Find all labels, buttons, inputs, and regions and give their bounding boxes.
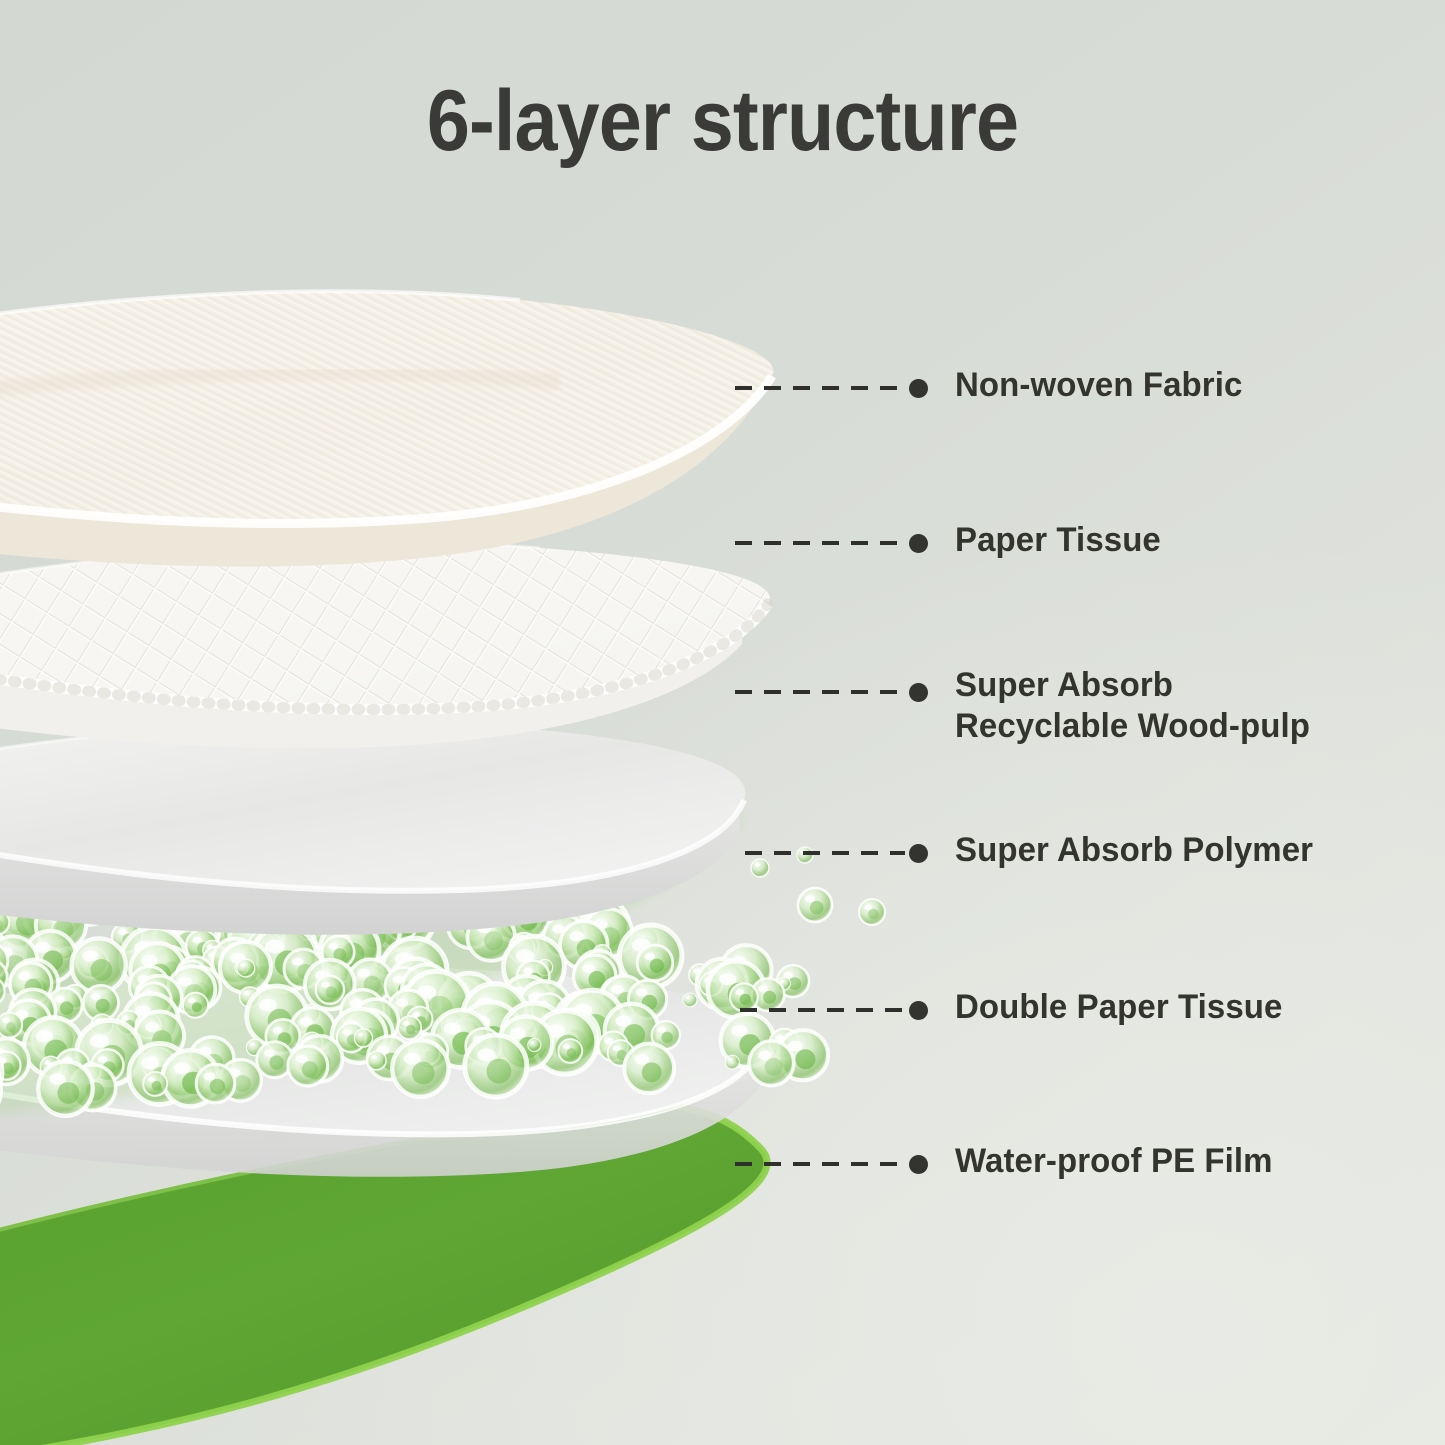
sap-bead-highlight (636, 989, 647, 997)
sap-bead-core (740, 994, 751, 1005)
sap-bead-highlight (265, 940, 285, 954)
sap-bead-highlight (582, 964, 595, 973)
sap-bead-highlight (148, 1077, 155, 1082)
sap-bead-highlight (477, 1049, 496, 1062)
sap-bead-core (810, 901, 824, 915)
sap-bead-highlight (563, 1044, 570, 1049)
sap-bead-highlight (188, 998, 196, 1003)
sap-bead-highlight (244, 991, 250, 995)
sap-bead-highlight (141, 1057, 159, 1070)
sap-bead-core (234, 1075, 251, 1092)
sap-bead (528, 1038, 541, 1051)
sap-bead-highlight (358, 1033, 363, 1037)
sap-bead-highlight (49, 1073, 65, 1084)
sap-bead-highlight (728, 1058, 732, 1061)
layer-label-line1: Water-proof PE Film (955, 1142, 1273, 1180)
leader-line-super-absorb-recyclable-wood-pulp (735, 690, 905, 694)
layer-label-line1: Non-woven Fabric (955, 366, 1242, 404)
sap-bead (751, 859, 769, 877)
sap-bead-highlight (204, 1072, 216, 1080)
sap-bead-highlight (719, 973, 736, 985)
sap-bead-highlight (686, 996, 690, 999)
sap-bead-core (192, 1002, 202, 1012)
leader-line-double-paper-tissue (740, 1008, 905, 1012)
sap-bead-highlight (755, 863, 760, 867)
sap-bead (237, 959, 255, 977)
leader-dot-non-woven-fabric (909, 379, 928, 398)
sap-bead-core (406, 1025, 415, 1034)
sap-bead-highlight (657, 1027, 665, 1033)
sap-bead-core (650, 959, 664, 973)
sap-bead-highlight (613, 1046, 621, 1051)
layer-label-paper-tissue: Paper Tissue (955, 520, 1161, 561)
sap-bead-highlight (292, 958, 304, 966)
sap-bead-highlight (36, 1030, 53, 1042)
leader-line-non-woven-fabric (735, 386, 905, 390)
sap-bead-highlight (300, 1017, 313, 1026)
product-layer-diagram: 6-layer structure (0, 0, 1445, 1445)
layer-label-line1: Super Absorb (955, 666, 1173, 704)
leader-line-water-proof-pe-film (735, 1162, 905, 1166)
sap-bead-highlight (174, 1062, 191, 1074)
layer-label-double-paper-tissue: Double Paper Tissue (955, 987, 1282, 1028)
leader-dot-double-paper-tissue (909, 1001, 928, 1020)
sap-bead-core (763, 991, 776, 1004)
sap-bead-highlight (18, 972, 30, 981)
layer-shape-non-woven-fabric (0, 291, 773, 566)
sap-bead-core (91, 959, 113, 981)
sap-bead-core (60, 1001, 74, 1015)
sap-bead-highlight (758, 1051, 771, 1060)
layer-shape-paper-tissue (0, 543, 770, 749)
sap-bead-highlight (90, 1034, 109, 1048)
layer-label-line2: Recyclable Wood-pulp (955, 706, 1310, 747)
sap-bead-core (795, 1049, 815, 1069)
sap-bead-highlight (2, 1018, 10, 1023)
sap-bead-highlight (634, 1054, 649, 1064)
sap-bead-highlight (90, 993, 101, 1000)
sap-bead-core (765, 1058, 783, 1076)
sap-bead-core (412, 1062, 435, 1085)
sap-bead (797, 847, 813, 863)
sap-bead-core (210, 1079, 225, 1094)
sap-bead-highlight (403, 1021, 410, 1026)
sap-bead-highlight (178, 977, 192, 987)
sap-bead-core (326, 986, 337, 997)
sap-bead-highlight (611, 985, 624, 994)
layer-label-water-proof-pe-film: Water-proof PE Film (955, 1141, 1273, 1182)
sap-bead-highlight (615, 1015, 631, 1026)
sap-bead-core (302, 1061, 318, 1077)
leader-dot-super-absorb-polymer (909, 844, 928, 863)
sap-bead (354, 1029, 372, 1047)
sap-bead-highlight (530, 1041, 534, 1044)
sap-bead-highlight (141, 955, 157, 966)
layer-label-super-absorb-polymer: Super Absorb Polymer (955, 830, 1313, 871)
sap-bead-highlight (644, 953, 655, 960)
sap-bead-highlight (118, 929, 127, 935)
sap-bead-highlight (259, 999, 277, 1012)
sap-bead-highlight (82, 950, 98, 961)
sap-bead-highlight (570, 931, 584, 941)
sap-bead-highlight (731, 1025, 747, 1036)
layer-label-non-woven-fabric: Non-woven Fabric (955, 365, 1242, 406)
sap-bead-core (484, 931, 503, 950)
leader-dot-paper-tissue (909, 534, 928, 553)
sap-bead-highlight (240, 963, 245, 967)
sap-bead-highlight (444, 1022, 461, 1034)
sap-bead-highlight (329, 943, 339, 950)
sap-bead-highlight (524, 968, 534, 975)
sap-bead-core (96, 999, 110, 1013)
sap-bead-highlight (193, 937, 203, 944)
sap-bead-core (868, 909, 878, 919)
sap-bead-highlight (250, 1043, 255, 1046)
sap-bead-highlight (404, 1053, 421, 1065)
leader-dot-super-absorb-recyclable-wood-pulp (909, 683, 928, 702)
layer-label-line1: Double Paper Tissue (955, 988, 1282, 1026)
sap-bead-highlight (805, 895, 815, 902)
sap-bead-highlight (343, 1029, 352, 1035)
sap-bead-core (662, 1032, 673, 1043)
sap-bead-core (642, 1062, 662, 1082)
sap-bead-highlight (122, 1016, 129, 1021)
sap-bead-highlight (357, 969, 370, 978)
leader-line-paper-tissue (735, 541, 905, 545)
sap-bead (683, 993, 697, 1007)
layer-label-line1: Super Absorb Polymer (955, 831, 1313, 869)
layer-label-line1: Paper Tissue (955, 521, 1161, 559)
sap-bead (725, 1055, 739, 1069)
sap-bead-core (6, 1022, 16, 1032)
sap-bead-highlight (55, 996, 65, 1003)
sap-bead-core (152, 1081, 162, 1091)
sap-bead-highlight (98, 1056, 108, 1063)
sap-bead-highlight (864, 905, 872, 910)
sap-bead-highlight (396, 999, 408, 1007)
sap-bead-core (57, 1082, 79, 1104)
sap-bead-highlight (264, 1049, 275, 1057)
layer-label-super-absorb-recyclable-wood-pulp: Super AbsorbRecyclable Wood-pulp (955, 665, 1310, 748)
sap-bead-highlight (371, 1055, 377, 1059)
sap-bead-highlight (273, 1027, 283, 1034)
sap-bead-highlight (145, 1022, 160, 1032)
sap-bead-highlight (758, 985, 768, 992)
sap-bead-core (567, 1048, 577, 1058)
sap-bead-core (269, 1055, 283, 1069)
sap-bead-highlight (736, 989, 744, 995)
sap-bead-highlight (296, 1055, 308, 1063)
leader-dot-water-proof-pe-film (909, 1155, 928, 1174)
sap-bead (368, 1051, 387, 1070)
sap-bead-core (487, 1059, 512, 1084)
leader-line-super-absorb-polymer (745, 851, 905, 855)
sap-bead-highlight (322, 982, 330, 988)
